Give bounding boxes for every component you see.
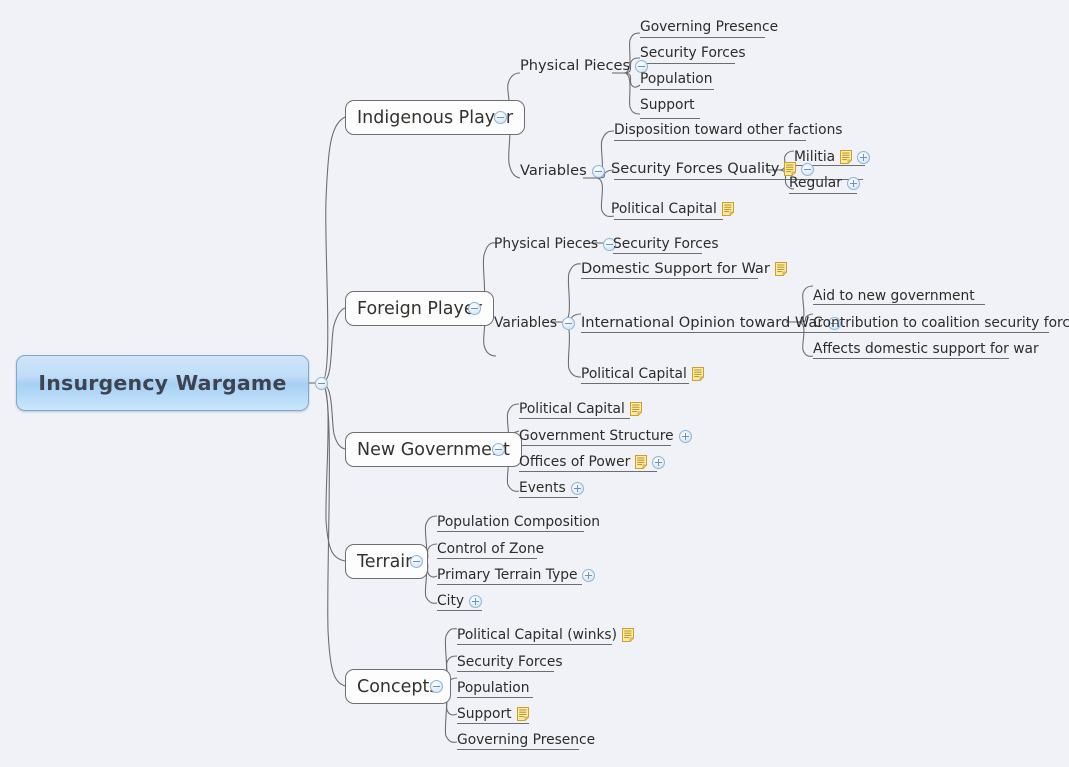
node-label: Physical Pieces [520, 56, 630, 76]
indigenous-player-collapse-toggle[interactable] [494, 111, 507, 124]
node-label: Support [457, 704, 512, 724]
offices-of-power-expand-toggle[interactable] [652, 456, 665, 469]
node-underline [640, 118, 700, 119]
node-label: Political Capital [519, 399, 625, 419]
branch-label: Indigenous Player [357, 108, 513, 128]
new-government-collapse-toggle[interactable] [492, 443, 505, 456]
node-label: Population [640, 69, 713, 89]
node-label: Variables [494, 313, 557, 333]
node-primary-terrain-type[interactable]: Primary Terrain Type [437, 565, 595, 585]
node-label: International Opinion toward War [581, 313, 823, 333]
node-aid-to-new-government[interactable]: Aid to new government [813, 286, 975, 306]
node-label: Affects domestic support for war [813, 339, 1039, 359]
node-governing-presence-concepts[interactable]: Governing Presence [457, 730, 595, 750]
militia-expand-toggle[interactable] [857, 151, 870, 164]
node-regular[interactable]: Regular [789, 173, 860, 193]
node-label: Political Capital [581, 364, 687, 384]
note-icon [722, 202, 734, 216]
branch-label: Terrain [357, 552, 416, 572]
primary-terrain-type-expand-toggle[interactable] [582, 569, 595, 582]
node-label: Variables [520, 161, 587, 181]
node-label: Political Capital [611, 199, 717, 219]
note-icon [692, 367, 704, 381]
node-label: Security Forces [613, 234, 719, 254]
node-label: Population Composition [437, 512, 600, 532]
node-support-concepts[interactable]: Support [457, 704, 529, 724]
events-expand-toggle[interactable] [571, 482, 584, 495]
node-underline [640, 89, 714, 90]
government-structure-expand-toggle[interactable] [679, 430, 692, 443]
city-expand-toggle[interactable] [469, 595, 482, 608]
node-label: Offices of Power [519, 452, 630, 472]
note-icon [635, 455, 647, 469]
node-variables-indigenous[interactable]: Variables [520, 161, 605, 181]
node-political-capital-foreign[interactable]: Political Capital [581, 364, 704, 384]
node-label: Domestic Support for War [581, 259, 770, 279]
node-label: Governing Presence [640, 17, 778, 37]
note-icon [775, 262, 787, 276]
node-political-capital-indigenous[interactable]: Political Capital [611, 199, 734, 219]
root-node[interactable]: Insurgency Wargame [16, 355, 309, 411]
mindmap-canvas: Insurgency Wargame Indigenous Player Phy… [0, 0, 1069, 767]
node-underline [640, 63, 735, 64]
concepts-collapse-toggle[interactable] [430, 680, 443, 693]
node-security-forces-concepts[interactable]: Security Forces [457, 652, 563, 672]
node-offices-of-power[interactable]: Offices of Power [519, 452, 665, 472]
note-icon [622, 628, 634, 642]
branch-label: New Government [357, 440, 510, 460]
node-label: Physical Pieces [494, 234, 598, 254]
note-icon [517, 707, 529, 721]
node-security-forces-quality[interactable]: Security Forces Quality [611, 159, 814, 179]
node-physical-pieces-indigenous[interactable]: Physical Pieces [520, 56, 648, 76]
node-label: Security Forces Quality [611, 159, 779, 179]
node-population[interactable]: Population [640, 69, 713, 89]
node-militia[interactable]: Militia [794, 147, 870, 167]
node-political-capital-new-government[interactable]: Political Capital [519, 399, 642, 419]
node-affects-domestic-support-for-war[interactable]: Affects domestic support for war [813, 339, 1039, 359]
node-international-opinion-toward-war[interactable]: International Opinion toward War [581, 313, 841, 333]
variables-foreign-collapse-toggle[interactable] [562, 317, 575, 330]
regular-expand-toggle[interactable] [847, 177, 860, 190]
node-population-concepts[interactable]: Population [457, 678, 530, 698]
node-underline [640, 37, 765, 38]
node-label: Events [519, 478, 566, 498]
node-security-forces[interactable]: Security Forces [640, 43, 746, 63]
node-label: Aid to new government [813, 286, 975, 306]
foreign-player-collapse-toggle[interactable] [468, 302, 481, 315]
branch-label: Concepts [357, 677, 439, 697]
node-label: Security Forces [640, 43, 746, 63]
terrain-collapse-toggle[interactable] [410, 555, 423, 568]
node-label: Disposition toward other factions [614, 120, 843, 140]
node-label: Contribution to coalition security force… [813, 313, 1069, 333]
node-control-of-zone[interactable]: Control of Zone [437, 539, 544, 559]
node-label: Control of Zone [437, 539, 544, 559]
node-label: Militia [794, 147, 835, 167]
node-label: Population [457, 678, 530, 698]
note-icon [840, 150, 852, 164]
branch-label: Foreign Player [357, 299, 482, 319]
note-icon [630, 402, 642, 416]
node-city[interactable]: City [437, 591, 482, 611]
node-label: Political Capital (winks) [457, 625, 617, 645]
node-contribution-to-coalition-security-forces[interactable]: Contribution to coalition security force… [813, 313, 1069, 333]
node-variables-foreign[interactable]: Variables [494, 313, 575, 333]
node-label: City [437, 591, 464, 611]
node-label: Government Structure [519, 426, 674, 446]
node-population-composition[interactable]: Population Composition [437, 512, 600, 532]
node-governing-presence[interactable]: Governing Presence [640, 17, 778, 37]
node-label: Security Forces [457, 652, 563, 672]
node-underline [614, 219, 723, 220]
node-domestic-support-for-war[interactable]: Domestic Support for War [581, 259, 787, 279]
node-label: Support [640, 95, 695, 115]
variables-collapse-toggle[interactable] [592, 165, 605, 178]
node-government-structure[interactable]: Government Structure [519, 426, 692, 446]
node-underline [789, 193, 857, 194]
node-events[interactable]: Events [519, 478, 584, 498]
node-label: Regular [789, 173, 842, 193]
root-label: Insurgency Wargame [38, 371, 286, 395]
node-label: Governing Presence [457, 730, 595, 750]
node-physical-pieces-foreign[interactable]: Physical Pieces [494, 234, 616, 254]
node-disposition-toward-other-factions[interactable]: Disposition toward other factions [614, 120, 843, 140]
node-underline [614, 140, 806, 141]
root-collapse-toggle[interactable] [315, 377, 328, 390]
node-security-forces-foreign[interactable]: Security Forces [613, 234, 719, 254]
node-support[interactable]: Support [640, 95, 695, 115]
node-label: Primary Terrain Type [437, 565, 577, 585]
node-political-capital-winks[interactable]: Political Capital (winks) [457, 625, 634, 645]
